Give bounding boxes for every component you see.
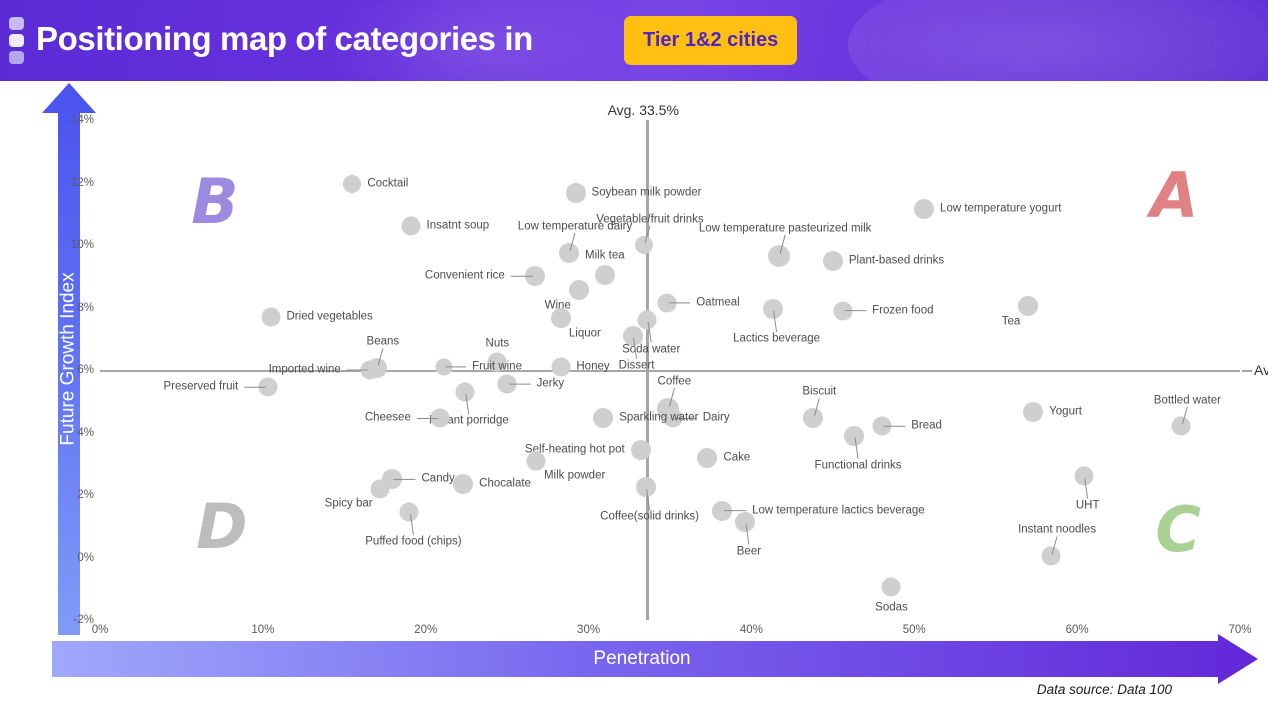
data-point-bubble[interactable] (636, 477, 656, 497)
data-point-label: Sodas (875, 602, 908, 614)
data-point-bubble[interactable] (431, 409, 450, 428)
data-point-label: Cheesee (365, 413, 411, 425)
data-point-bubble[interactable] (844, 426, 864, 446)
x-axis-tick: 70% (1228, 624, 1251, 636)
data-point-label: Dried vegetables (287, 311, 373, 323)
data-source-note: Data source: Data 100 (1037, 682, 1172, 697)
data-point-label: Bread (911, 421, 942, 433)
data-point-bubble[interactable] (638, 311, 657, 330)
data-point-bubble[interactable] (371, 479, 390, 498)
x-axis-tick: 10% (251, 624, 274, 636)
data-point-bubble[interactable] (882, 578, 901, 597)
data-point-label: Soybean milk powder (592, 188, 702, 200)
data-point-bubble[interactable] (623, 326, 643, 346)
data-point-label: Low temperature lactics beverage (752, 505, 925, 517)
data-point-label: Spicy bar (325, 499, 373, 511)
y-axis-tick: 10% (71, 239, 94, 251)
data-point-bubble[interactable] (455, 382, 474, 401)
data-point-bubble[interactable] (872, 417, 891, 436)
data-point-bubble[interactable] (1023, 402, 1043, 422)
data-point-bubble[interactable] (823, 251, 843, 271)
data-point-label: Puffed food (chips) (365, 536, 461, 548)
data-point-bubble[interactable] (527, 451, 546, 470)
data-point-bubble[interactable] (657, 293, 676, 312)
data-point-label: Jerky (537, 378, 564, 390)
data-point-label: Dairy (703, 413, 730, 425)
x-axis-tick: 0% (92, 624, 109, 636)
data-point-bubble[interactable] (400, 503, 419, 522)
data-point-bubble[interactable] (551, 308, 571, 328)
data-point-label: Nuts (486, 338, 510, 350)
x-axis-tick: 30% (577, 624, 600, 636)
data-point-bubble[interactable] (1074, 467, 1093, 486)
data-point-bubble[interactable] (559, 243, 579, 263)
data-point-bubble[interactable] (697, 448, 717, 468)
data-point-bubble[interactable] (833, 301, 852, 320)
data-point-label: Frozen food (872, 305, 933, 317)
data-point-bubble[interactable] (914, 199, 934, 219)
data-point-bubble[interactable] (262, 307, 281, 326)
three-stacked-squares-icon (9, 17, 24, 64)
data-point-bubble[interactable] (343, 175, 361, 193)
y-axis-tick: 8% (77, 302, 94, 314)
data-point-bubble[interactable] (1172, 417, 1191, 436)
data-point-label: Preserved fruit (163, 381, 238, 393)
data-point-bubble[interactable] (453, 474, 473, 494)
y-axis-tick: 0% (77, 552, 94, 564)
data-point-bubble[interactable] (402, 217, 421, 236)
data-point-bubble[interactable] (631, 440, 651, 460)
header-sheen-decoration (848, 0, 1268, 81)
right-arrow-icon (52, 634, 1258, 684)
data-point-bubble[interactable] (258, 378, 277, 397)
data-point-label: Functional drinks (815, 460, 902, 472)
quadrant-letter-b: B (191, 171, 238, 233)
page-title: Positioning map of categories in (36, 16, 533, 62)
x-axis-tick: 60% (1066, 624, 1089, 636)
data-point-bubble[interactable] (569, 280, 589, 300)
data-point-bubble[interactable] (551, 357, 570, 376)
data-point-bubble[interactable] (1018, 296, 1038, 316)
y-axis-tick: 12% (71, 177, 94, 189)
data-point-bubble[interactable] (763, 299, 783, 319)
page-header: Positioning map of categories in Tier 1&… (0, 0, 1268, 81)
data-point-label: Low temperature dairy (518, 221, 632, 233)
data-point-label: Lactics beverage (733, 333, 820, 345)
data-point-label: Instant noodles (1018, 525, 1096, 537)
x-axis-tick: 40% (740, 624, 763, 636)
positioning-map-page: Positioning map of categories in Tier 1&… (0, 0, 1268, 713)
avg-growth-line-extension (1242, 370, 1252, 372)
x-axis-tick: 50% (903, 624, 926, 636)
data-point-bubble[interactable] (595, 265, 615, 285)
data-point-bubble[interactable] (635, 236, 653, 254)
data-point-label: Beer (737, 546, 761, 558)
data-point-bubble[interactable] (1042, 546, 1061, 565)
data-point-bubble[interactable] (735, 512, 755, 532)
data-point-label: Biscuit (802, 387, 836, 399)
data-point-label: Oatmeal (696, 297, 739, 309)
y-axis-tick: 4% (77, 427, 94, 439)
data-point-label: Cocktail (367, 178, 408, 190)
data-point-label: Low temperature pasteurized milk (699, 223, 872, 235)
data-point-label: Yogurt (1049, 406, 1082, 418)
data-point-label: Honey (576, 361, 609, 373)
data-point-label: Liquor (569, 329, 601, 341)
data-point-bubble[interactable] (803, 408, 823, 428)
data-point-label: Bottled water (1154, 395, 1221, 407)
data-point-label: Tea (1002, 316, 1021, 328)
scatter-plot-area: -2%0%2%4%6%8%10%12%14%0%10%20%30%40%50%6… (100, 120, 1240, 620)
data-point-label: Milk powder (544, 470, 605, 482)
data-point-label: Beans (367, 337, 400, 349)
avg-penetration-label: Avg. 33.5% (608, 102, 679, 118)
data-point-label: Milk tea (585, 250, 625, 262)
quadrant-letter-c: C (1155, 499, 1201, 561)
data-point-label: Fruit wine (472, 361, 522, 373)
data-point-label: Low temperature yogurt (940, 203, 1061, 215)
data-point-label: Chocalate (479, 478, 531, 490)
data-point-bubble[interactable] (593, 408, 613, 428)
data-point-label: Dissert (619, 360, 655, 372)
x-axis-tick: 20% (414, 624, 437, 636)
data-point-bubble[interactable] (361, 361, 380, 380)
quadrant-letter-a: A (1150, 165, 1198, 227)
data-point-label: Cake (723, 452, 750, 464)
data-point-bubble[interactable] (566, 183, 586, 203)
data-point-bubble[interactable] (712, 501, 732, 521)
data-point-label: Coffee (658, 376, 692, 388)
data-point-bubble[interactable] (525, 266, 545, 286)
y-axis-tick: 6% (77, 364, 94, 376)
y-axis-tick: 14% (71, 114, 94, 126)
tier-badge: Tier 1&2 cities (624, 16, 797, 65)
data-point-label: UHT (1076, 500, 1100, 512)
data-point-bubble[interactable] (435, 358, 452, 375)
data-point-label: Coffee(solid drinks) (600, 511, 699, 523)
data-point-label: Candy (422, 474, 455, 486)
data-point-label: Imported wine (269, 364, 341, 376)
data-point-label: Convenient rice (425, 271, 505, 283)
quadrant-letter-d: D (196, 496, 247, 558)
y-axis-tick: 2% (77, 489, 94, 501)
data-point-label: Plant-based drinks (849, 255, 944, 267)
data-point-bubble[interactable] (498, 375, 517, 394)
data-point-label: Insatnt soup (427, 221, 490, 233)
data-point-bubble[interactable] (768, 245, 790, 267)
avg-growth-label: Avg. 6% (1254, 362, 1268, 378)
data-point-label: Sparkling water (619, 413, 698, 425)
